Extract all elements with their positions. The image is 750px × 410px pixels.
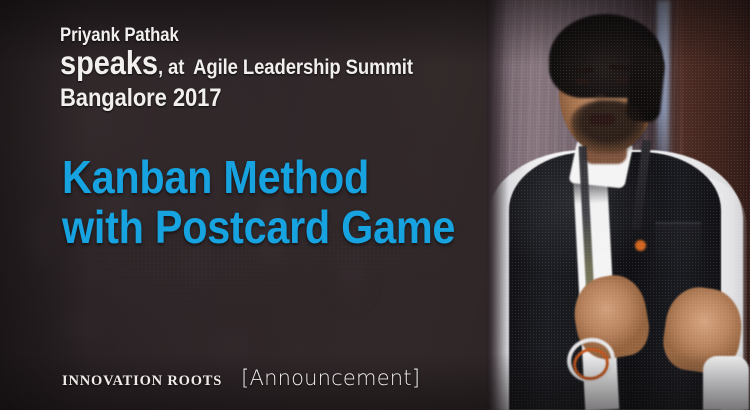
shirt-cuff-right [703,356,749,410]
badge-dot [635,240,646,251]
poster-title: Kanban Method with Postcard Game [62,152,499,252]
speaks-line: speaks , at Agile Leadership Summit [60,47,430,83]
speaker-photo [487,0,750,410]
eye-right [613,76,628,83]
event-name: Agile Leadership Summit [193,52,413,83]
event-city-year: Bangalore 2017 [60,83,430,113]
announcement-poster: Priyank Pathak speaks , at Agile Leaders… [0,0,750,410]
announcement-tag: [Announcement] [241,366,420,390]
at-word: , at [158,52,184,83]
title-line-2: with Postcard Game [62,202,455,252]
vest-pocket [655,222,701,276]
eye-left [575,78,590,85]
speaks-word: speaks [60,47,158,78]
title-line-1: Kanban Method [62,152,455,202]
mouth [589,114,615,125]
innovation-roots-logo: Innovation Roots [62,373,222,390]
header-block: Priyank Pathak speaks , at Agile Leaders… [60,24,480,113]
footer-block: Innovation Roots [Announcement] [62,366,420,390]
